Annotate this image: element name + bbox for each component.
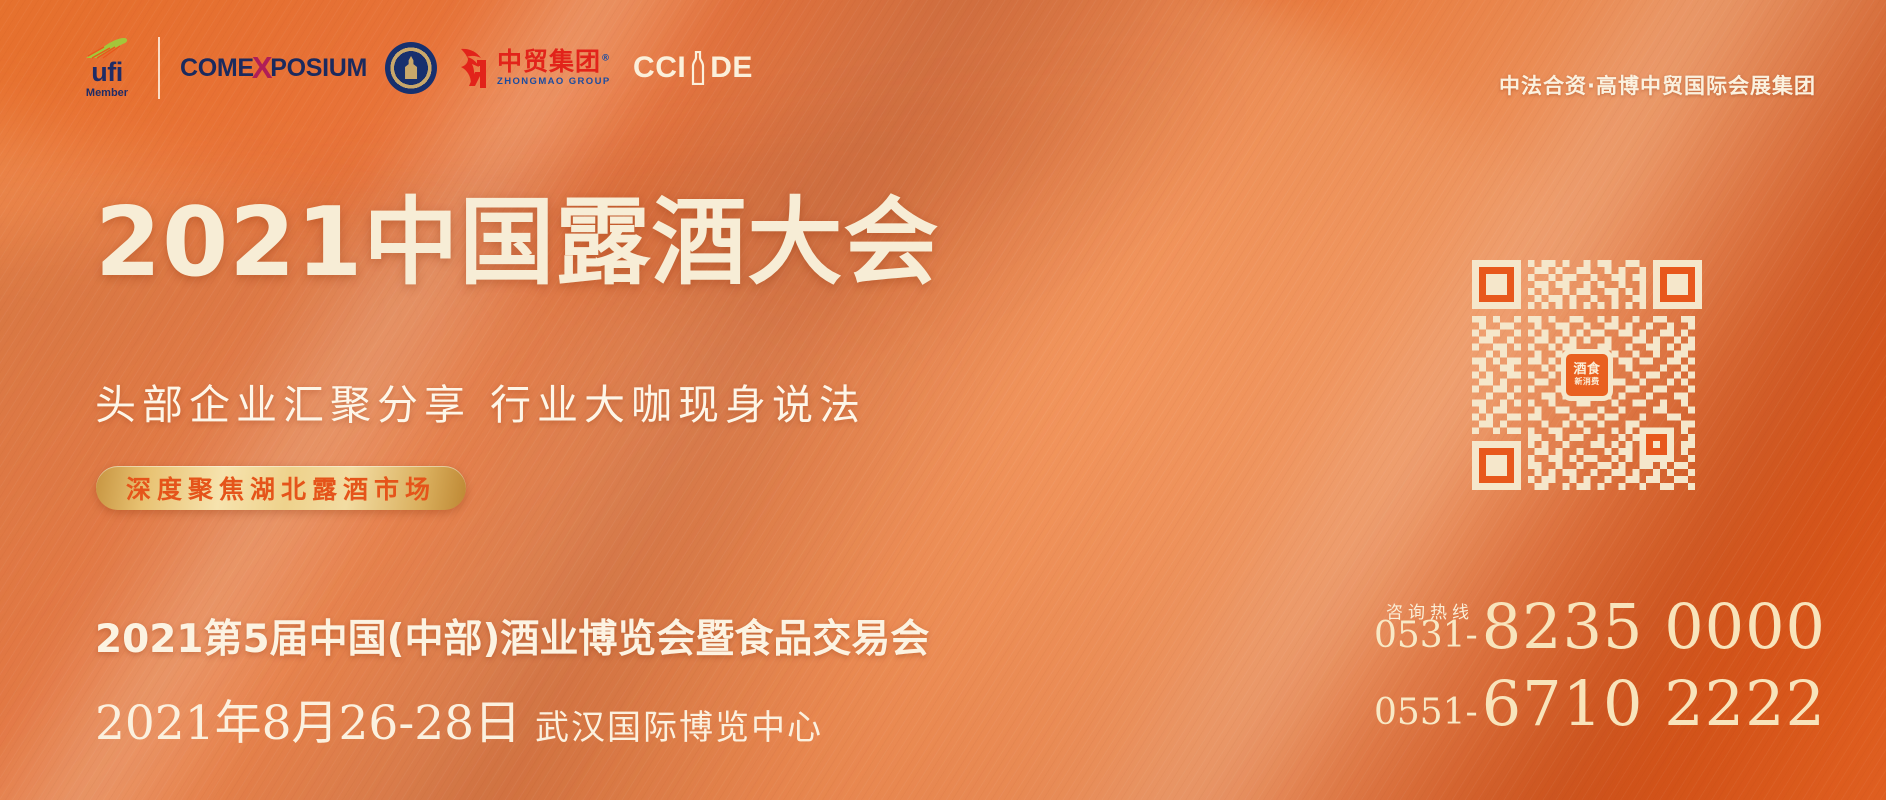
logo-cciade: CCI DE xyxy=(633,51,753,85)
comexposium-text-left: COME xyxy=(180,54,254,83)
ufi-swoosh-icon xyxy=(84,37,130,59)
qr-logo-line1: 酒食 xyxy=(1573,363,1600,377)
registered-mark-icon: ® xyxy=(601,54,611,64)
event-date: 2021年8月26-28日 xyxy=(95,700,521,747)
ufi-member-label: Member xyxy=(86,87,128,99)
subtitle: 头部企业汇聚分享 行业大咖现身说法 xyxy=(95,385,866,426)
event-banner: ufi Member COME X POSIUM 中贸集团® ZHONGMAO … xyxy=(0,0,1886,800)
comexposium-x-glyph: X xyxy=(252,50,272,86)
focus-badge-label: 深度聚焦湖北露酒市场 xyxy=(126,470,436,506)
event-when-where: 2021年8月26-28日 武汉国际博览中心 xyxy=(95,700,823,747)
circular-seal-icon xyxy=(385,42,437,94)
logo-zhongmao-group: 中贸集团® ZHONGMAO GROUP xyxy=(455,46,611,90)
qr-center-logo: 酒食 新消费 xyxy=(1564,352,1610,398)
logo-comexposium: COME X POSIUM xyxy=(180,50,367,86)
hotline-row-2[interactable]: 0551- 6710 2222 xyxy=(1266,675,1826,734)
focus-badge: 深度聚焦湖北露酒市场 xyxy=(96,466,466,510)
hotline-1-prefix: 0531- xyxy=(1374,618,1478,654)
zhongmao-en-name: ZHONGMAO GROUP xyxy=(497,76,611,87)
bottle-icon xyxy=(687,51,709,85)
cciade-text-right: DE xyxy=(710,51,753,85)
qr-logo-line2: 新消费 xyxy=(1575,378,1600,387)
qr-code[interactable]: 酒食 新消费 xyxy=(1472,260,1702,490)
partner-logo-bar: ufi Member COME X POSIUM 中贸集团® ZHONGMAO … xyxy=(72,32,753,104)
zhongmao-cn-name: 中贸集团® xyxy=(497,49,611,74)
comexposium-text-right: POSIUM xyxy=(270,54,367,83)
hotline-2-prefix: 0551- xyxy=(1374,695,1478,731)
logo-divider xyxy=(158,37,160,99)
event-name: 2021第5届中国(中部)酒业博览会暨食品交易会 xyxy=(95,620,929,659)
ufi-wordmark: ufi xyxy=(91,60,123,86)
hotline-row-1[interactable]: 0531- 8235 0000 xyxy=(1266,598,1826,657)
cciade-text-left: CCI xyxy=(633,51,686,85)
hotline-2-number: 6710 2222 xyxy=(1482,675,1826,734)
hotline-block: 咨询热线 0531- 8235 0000 0551- 6710 2222 xyxy=(1266,598,1826,734)
zhongmao-mark-icon xyxy=(455,46,493,90)
page-title: 2021中国露酒大会 xyxy=(95,196,939,291)
event-venue: 武汉国际博览中心 xyxy=(535,711,823,745)
logo-ufi: ufi Member xyxy=(72,37,142,99)
organizer-line: 中法合资·高博中贸国际会展集团 xyxy=(1499,70,1816,100)
hotline-1-number: 8235 0000 xyxy=(1482,598,1826,657)
